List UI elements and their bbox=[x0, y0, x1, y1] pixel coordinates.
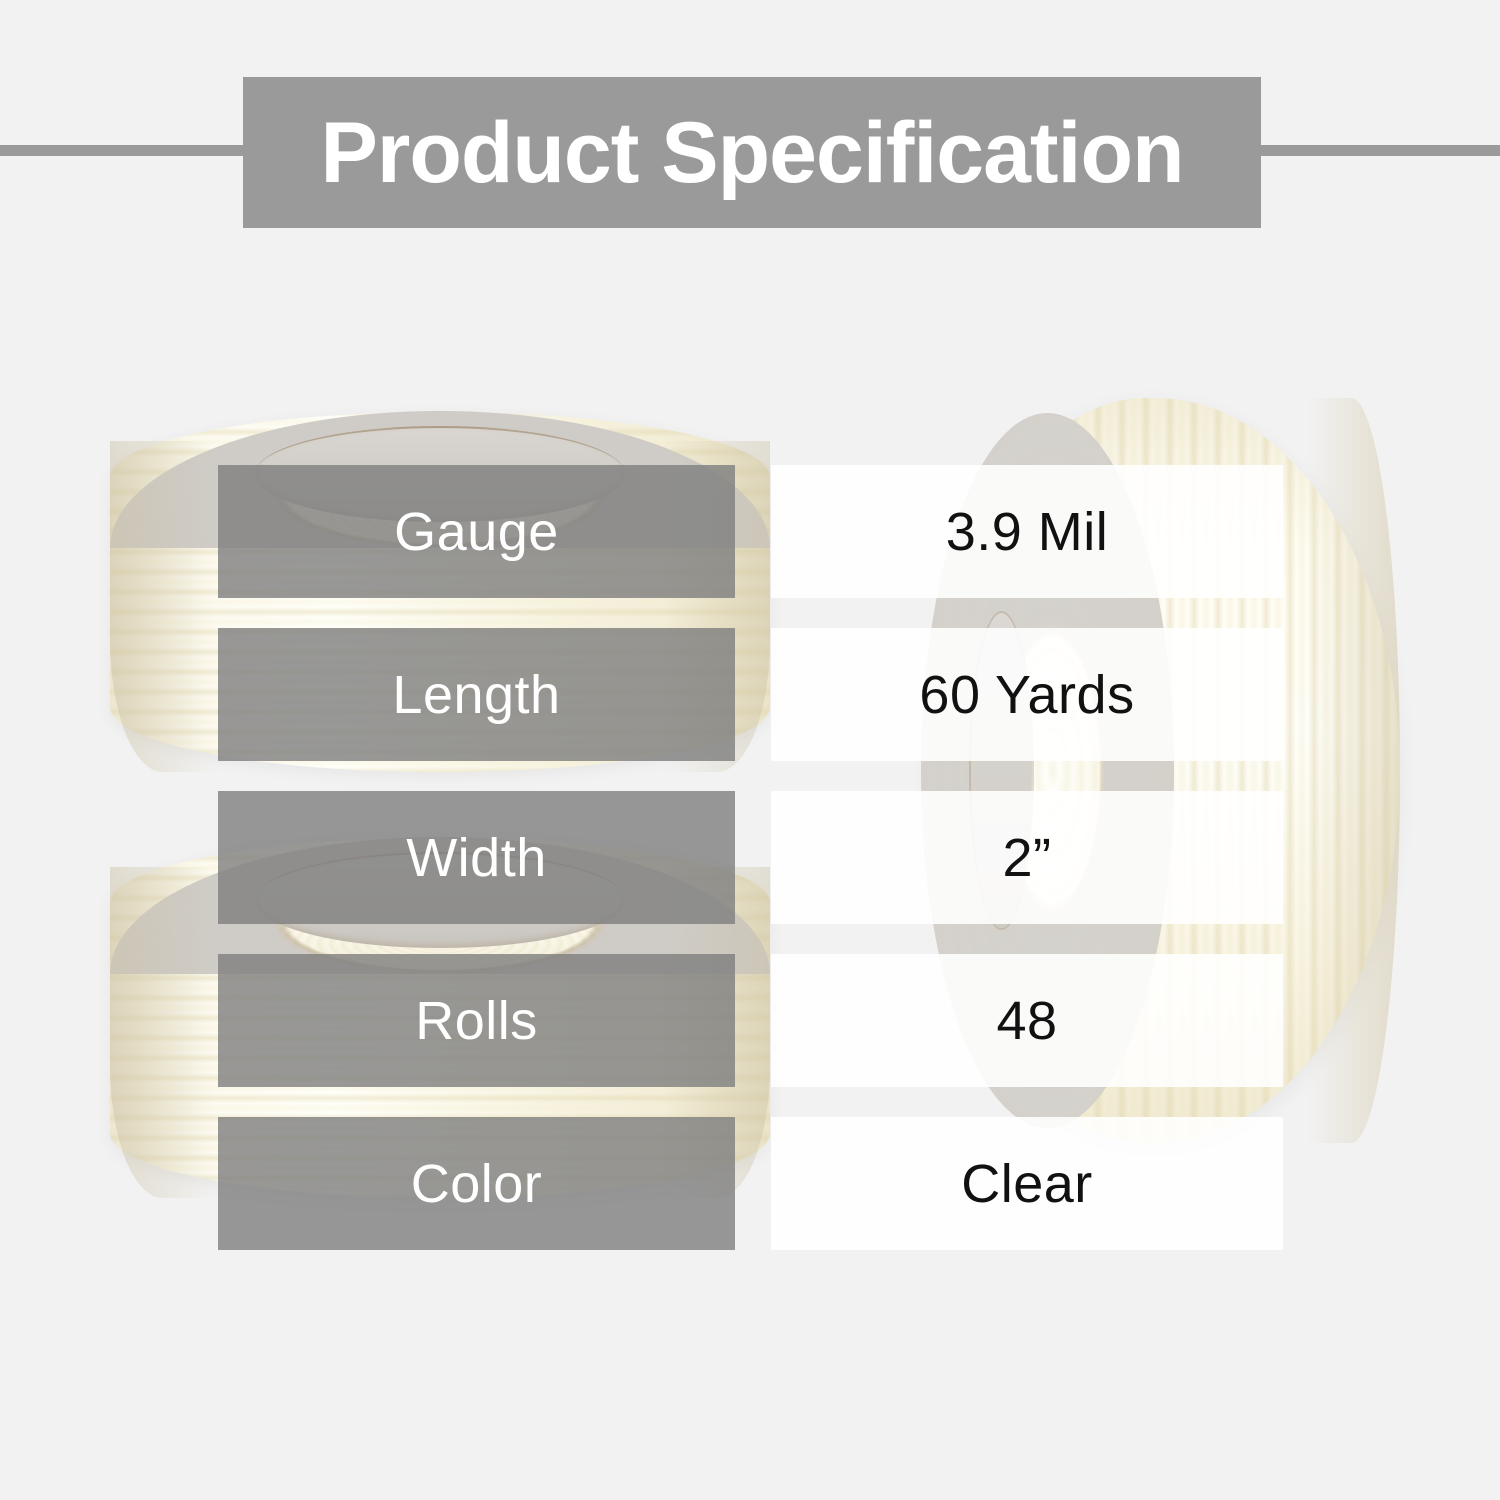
spec-value-length: 60 Yards bbox=[919, 668, 1134, 722]
table-row: Color Clear bbox=[218, 1117, 1283, 1250]
spec-value-cell: Clear bbox=[771, 1117, 1283, 1250]
spec-value-color: Clear bbox=[961, 1157, 1093, 1211]
spec-value-rolls: 48 bbox=[996, 994, 1057, 1048]
spec-value-gauge: 3.9 Mil bbox=[946, 505, 1109, 559]
spec-label-cell: Gauge bbox=[218, 465, 735, 598]
table-row: Rolls 48 bbox=[218, 954, 1283, 1087]
spec-value-cell: 48 bbox=[771, 954, 1283, 1087]
spec-label-color: Color bbox=[411, 1157, 543, 1211]
spec-label-cell: Width bbox=[218, 791, 735, 924]
table-row: Length 60 Yards bbox=[218, 628, 1283, 761]
spec-value-cell: 3.9 Mil bbox=[771, 465, 1283, 598]
spec-label-cell: Color bbox=[218, 1117, 735, 1250]
spec-label-cell: Length bbox=[218, 628, 735, 761]
table-row: Width 2” bbox=[218, 791, 1283, 924]
spec-label-rolls: Rolls bbox=[415, 994, 538, 1048]
specification-table: Gauge 3.9 Mil Length 60 Yards Width 2” bbox=[0, 0, 1500, 1500]
spec-label-length: Length bbox=[392, 668, 560, 722]
spec-value-width: 2” bbox=[1002, 831, 1051, 885]
spec-label-cell: Rolls bbox=[218, 954, 735, 1087]
table-row: Gauge 3.9 Mil bbox=[218, 465, 1283, 598]
product-spec-page: Product Specification Gauge 3.9 Mil Leng… bbox=[0, 0, 1500, 1500]
spec-value-cell: 60 Yards bbox=[771, 628, 1283, 761]
spec-value-cell: 2” bbox=[771, 791, 1283, 924]
spec-label-gauge: Gauge bbox=[394, 505, 559, 559]
spec-label-width: Width bbox=[406, 831, 547, 885]
